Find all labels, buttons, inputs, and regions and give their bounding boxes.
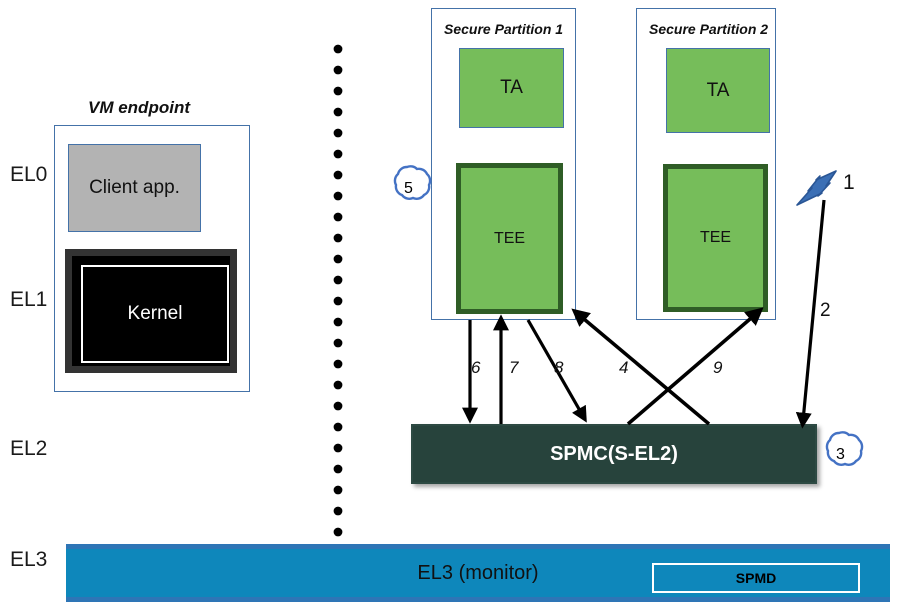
badge-3-label: 3 bbox=[836, 446, 845, 464]
flow-label-9: 9 bbox=[713, 358, 722, 378]
el3-monitor-label: EL3 (monitor) bbox=[417, 562, 538, 585]
flow-label-6: 6 bbox=[471, 358, 480, 378]
level-label-el1: EL1 bbox=[10, 288, 47, 312]
flow-label-8: 8 bbox=[554, 358, 563, 378]
spmc-box[interactable]: SPMC(S-EL2) bbox=[411, 424, 817, 484]
secure-partition-2-caption: Secure Partition 2 bbox=[649, 21, 768, 37]
flow-arrow-9 bbox=[628, 313, 757, 424]
lightning-bolt-icon bbox=[797, 171, 836, 205]
diagram-canvas: EL0 EL1 EL2 EL3 VM endpoint Client app. … bbox=[0, 0, 902, 608]
vm-endpoint-caption: VM endpoint bbox=[88, 98, 190, 118]
sp1-tee-box[interactable]: TEE bbox=[456, 163, 563, 314]
world-divider-dotted-line bbox=[334, 45, 343, 537]
level-label-el0: EL0 bbox=[10, 163, 47, 187]
flow-arrow-4 bbox=[578, 314, 709, 424]
spmd-box[interactable]: SPMD bbox=[652, 563, 860, 593]
badge-5-label: 5 bbox=[404, 180, 413, 198]
el3-monitor-bar[interactable]: EL3 (monitor) SPMD bbox=[66, 544, 890, 602]
secure-partition-1-caption: Secure Partition 1 bbox=[444, 21, 563, 37]
kernel-label: Kernel bbox=[81, 265, 229, 363]
client-app-box[interactable]: Client app. bbox=[68, 144, 201, 232]
level-label-el2: EL2 bbox=[10, 437, 47, 461]
level-label-el3: EL3 bbox=[10, 548, 47, 572]
flow-label-2: 2 bbox=[820, 300, 831, 322]
sp2-tee-box[interactable]: TEE bbox=[663, 164, 768, 312]
sp2-ta-box[interactable]: TA bbox=[666, 48, 770, 133]
kernel-box[interactable]: Kernel bbox=[65, 249, 237, 373]
bolt-label-1: 1 bbox=[843, 171, 855, 195]
sp1-ta-box[interactable]: TA bbox=[459, 48, 564, 128]
flow-label-7: 7 bbox=[509, 358, 518, 378]
flow-label-4: 4 bbox=[619, 358, 628, 378]
